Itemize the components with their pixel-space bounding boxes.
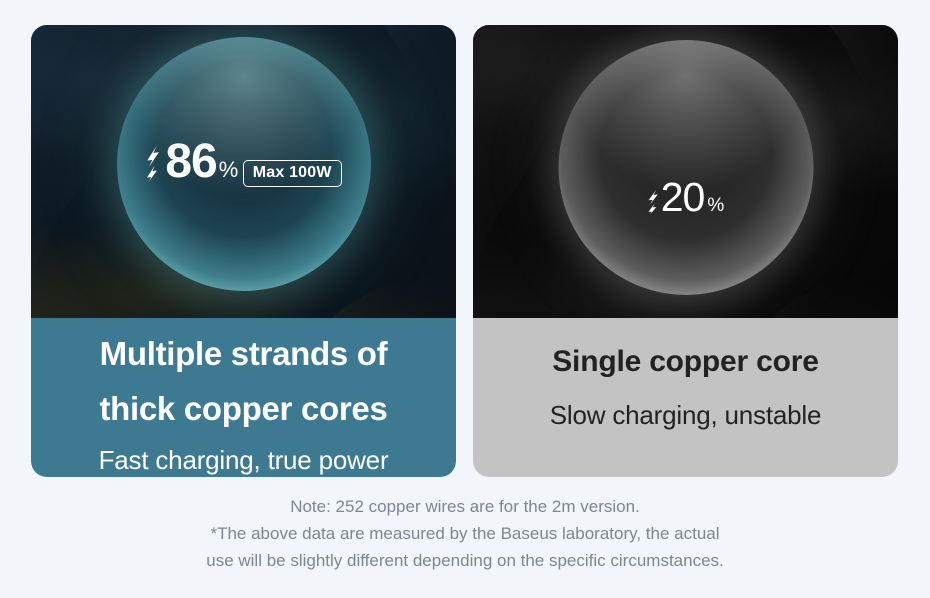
comparison-section: 86 % Max 100W Multiple strands of thick … — [0, 0, 930, 598]
caption-title-line1-right: Single copper core — [552, 345, 818, 380]
caption-subtitle-right: Slow charging, unstable — [550, 400, 821, 431]
footnotes: Note: 252 copper wires are for the 2m ve… — [0, 494, 930, 575]
sphere-stage-left: 86 % Max 100W — [31, 25, 456, 318]
max-power-badge: Max 100W — [243, 160, 342, 187]
lightning-bolt-icon — [145, 146, 162, 182]
battery-readout-right: 20 % — [473, 177, 898, 218]
caption-panel-left: Multiple strands of thick copper cores F… — [31, 318, 456, 477]
footnote-line-3: use will be slightly different depending… — [0, 548, 930, 575]
caption-panel-right: Single copper core Slow charging, unstab… — [473, 318, 898, 477]
lightning-bolt-icon — [647, 190, 660, 215]
caption-subtitle-left: Fast charging, true power — [99, 445, 389, 476]
caption-title-line1-left: Multiple strands of — [100, 335, 388, 373]
percent-value-left: 86 — [165, 138, 216, 186]
percent-line-left: 86 % — [145, 138, 238, 186]
sphere-stage-right: 20 % — [473, 25, 898, 318]
card-multiple-strands[interactable]: 86 % Max 100W Multiple strands of thick … — [31, 25, 456, 477]
percent-line-right: 20 % — [647, 177, 725, 218]
battery-readout-left: 86 % Max 100W — [31, 138, 456, 187]
footnote-line-1: Note: 252 copper wires are for the 2m ve… — [0, 494, 930, 521]
card-single-core[interactable]: 20 % Single copper core Slow charging, u… — [473, 25, 898, 477]
footnote-line-2: *The above data are measured by the Base… — [0, 521, 930, 548]
percent-sign-left: % — [219, 159, 239, 181]
percent-value-right: 20 — [661, 177, 705, 218]
caption-title-line2-left: thick copper cores — [99, 390, 387, 428]
battery-sphere-right — [558, 40, 813, 295]
percent-sign-right: % — [707, 196, 724, 215]
